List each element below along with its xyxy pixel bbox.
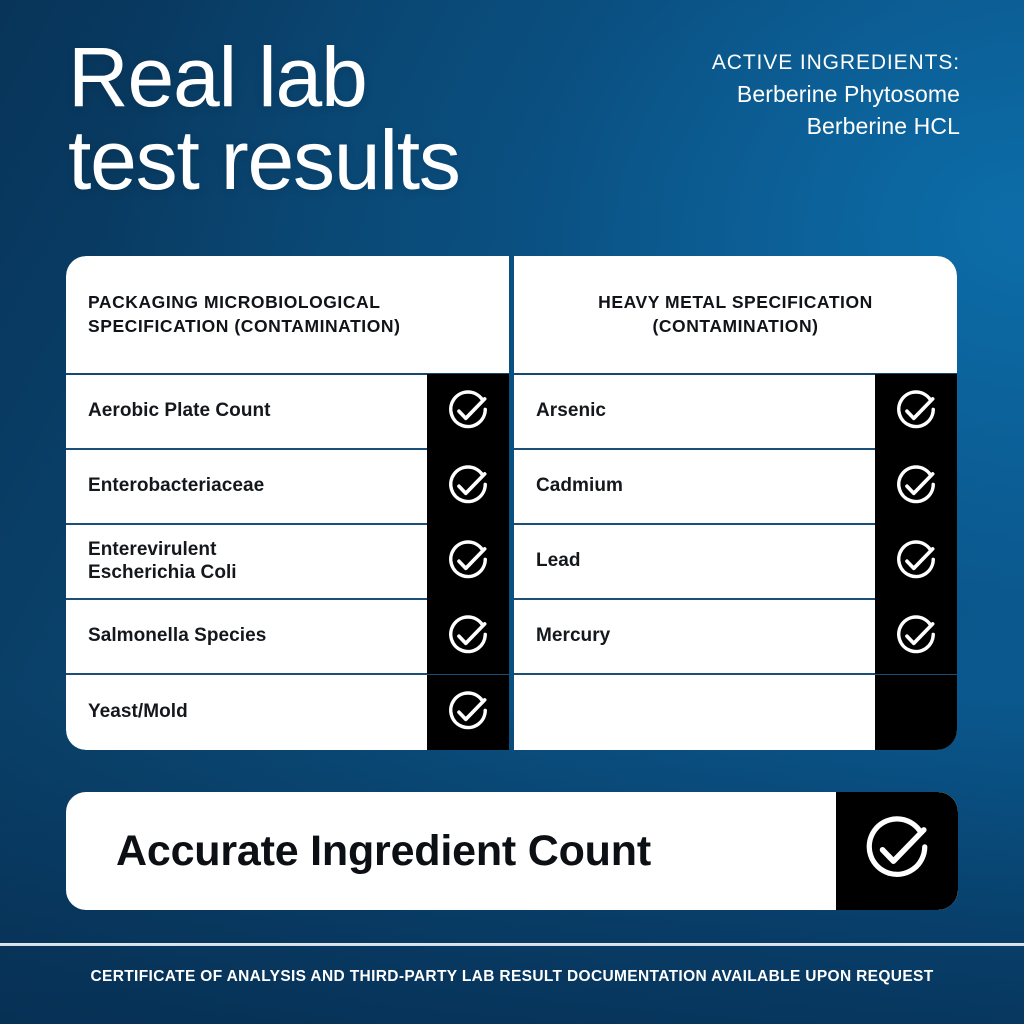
check-circle-icon (445, 464, 491, 510)
status-badge (427, 675, 509, 750)
column-header-label: HEAVY METAL SPECIFICATION (CONTAMINATION… (598, 291, 873, 338)
footer-divider (0, 943, 1024, 946)
poster-header: Real lab test results ACTIVE INGREDIENTS… (0, 0, 1024, 250)
table-row: Arsenic (514, 375, 957, 450)
page-title: Real lab test results (68, 36, 460, 202)
row-label: Aerobic Plate Count (66, 400, 427, 422)
table-row: Enterobacteriaceae (66, 450, 509, 525)
lab-results-poster: Real lab test results ACTIVE INGREDIENTS… (0, 0, 1024, 1024)
table-row: Lead (514, 525, 957, 600)
status-badge (427, 374, 509, 449)
row-label: Mercury (514, 625, 875, 647)
footer-note: CERTIFICATE OF ANALYSIS AND THIRD-PARTY … (0, 968, 1024, 986)
table-row: Salmonella Species (66, 600, 509, 675)
check-circle-icon (893, 464, 939, 510)
accurate-ingredient-count-banner: Accurate Ingredient Count (66, 792, 958, 910)
status-badge (875, 524, 957, 599)
table-row: Mercury (514, 600, 957, 675)
table-column-packaging-microbiological: PACKAGING MICROBIOLOGICAL SPECIFICATION … (66, 256, 509, 750)
banner-label: Accurate Ingredient Count (66, 792, 836, 910)
check-circle-icon (893, 389, 939, 435)
table-row: Yeast/Mold (66, 675, 509, 750)
status-badge (427, 449, 509, 524)
row-label: Enterevirulent Escherichia Coli (66, 539, 427, 583)
column-header: HEAVY METAL SPECIFICATION (CONTAMINATION… (514, 256, 957, 375)
check-circle-icon (445, 690, 491, 736)
active-ingredient-item: Berberine HCL (712, 110, 960, 143)
table-row: Enterevirulent Escherichia Coli (66, 525, 509, 600)
check-circle-icon (860, 814, 934, 888)
status-badge-empty (875, 675, 957, 750)
column-header: PACKAGING MICROBIOLOGICAL SPECIFICATION … (66, 256, 509, 375)
check-circle-icon (445, 539, 491, 585)
status-badge (875, 599, 957, 674)
status-badge (427, 599, 509, 674)
row-label: Lead (514, 550, 875, 572)
status-badge (875, 374, 957, 449)
status-badge (875, 449, 957, 524)
row-label: Salmonella Species (66, 625, 427, 647)
check-circle-icon (445, 614, 491, 660)
row-label: Arsenic (514, 400, 875, 422)
check-circle-icon (893, 539, 939, 585)
status-badge (427, 524, 509, 599)
active-ingredients-label: ACTIVE INGREDIENTS: (712, 48, 960, 78)
table-row: Cadmium (514, 450, 957, 525)
active-ingredients-block: ACTIVE INGREDIENTS: Berberine Phytosome … (712, 48, 960, 143)
table-row: Aerobic Plate Count (66, 375, 509, 450)
specification-table: PACKAGING MICROBIOLOGICAL SPECIFICATION … (66, 256, 958, 750)
table-column-heavy-metal: HEAVY METAL SPECIFICATION (CONTAMINATION… (514, 256, 957, 750)
row-label: Cadmium (514, 475, 875, 497)
active-ingredient-item: Berberine Phytosome (712, 78, 960, 111)
row-label: Enterobacteriaceae (66, 475, 427, 497)
check-circle-icon (893, 614, 939, 660)
status-badge (836, 792, 958, 910)
column-header-label: PACKAGING MICROBIOLOGICAL SPECIFICATION … (88, 291, 400, 338)
row-label: Yeast/Mold (66, 701, 427, 723)
check-circle-icon (445, 389, 491, 435)
table-row (514, 675, 957, 750)
